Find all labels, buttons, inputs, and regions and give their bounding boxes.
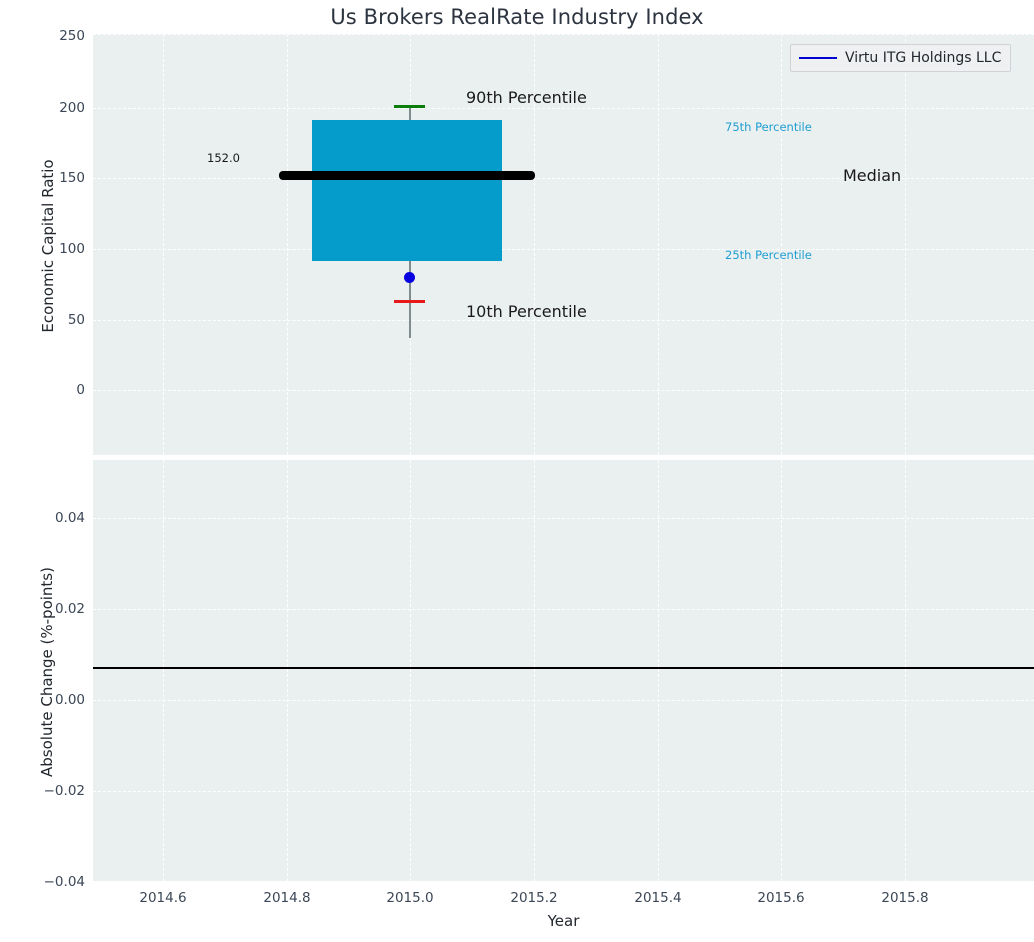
xtick-2014.6: 2014.6 bbox=[139, 890, 186, 906]
chart-figure: Us Brokers RealRate Industry Index 152.0 bbox=[0, 0, 1034, 942]
xtick-2014.8: 2014.8 bbox=[263, 890, 310, 906]
gridline-y-0.02 bbox=[93, 609, 1034, 610]
gridline-x2-2015.8 bbox=[905, 460, 906, 881]
chart-title: Us Brokers RealRate Industry Index bbox=[0, 5, 1034, 29]
zero-reference-line bbox=[93, 667, 1034, 669]
gridline-x2-2014.8 bbox=[287, 460, 288, 881]
ytick-top-0: 0 bbox=[0, 382, 85, 398]
xtick-2015.8: 2015.8 bbox=[881, 890, 928, 906]
gridline-y-100 bbox=[93, 249, 1034, 250]
interquartile-box bbox=[312, 120, 502, 261]
median-value-label: 152.0 bbox=[207, 151, 240, 165]
gridline-x-2015.6 bbox=[781, 34, 782, 455]
percentile-10-cap bbox=[394, 300, 425, 303]
ytick-top-250: 250 bbox=[0, 28, 85, 44]
gridline-x-2015.4 bbox=[658, 34, 659, 455]
gridline-x2-2014.6 bbox=[163, 460, 164, 881]
annotation-90th-percentile: 90th Percentile bbox=[466, 88, 587, 107]
gridline-x2-2015.0 bbox=[410, 460, 411, 881]
ytick-bottom--0.04: −0.04 bbox=[0, 874, 85, 890]
annotation-25th-percentile: 25th Percentile bbox=[725, 248, 812, 262]
annotation-75th-percentile: 75th Percentile bbox=[725, 120, 812, 134]
xtick-2015.2: 2015.2 bbox=[510, 890, 557, 906]
gridline-x-2014.6 bbox=[163, 34, 164, 455]
xtick-2015.4: 2015.4 bbox=[634, 890, 681, 906]
gridline-y-250 bbox=[93, 34, 1034, 35]
gridline-x2-2015.4 bbox=[658, 460, 659, 881]
gridline-y-0.04 bbox=[93, 518, 1034, 519]
gridline-y-200 bbox=[93, 108, 1034, 109]
ytick-top-200: 200 bbox=[0, 100, 85, 116]
median-line bbox=[279, 171, 535, 180]
annotation-10th-percentile: 10th Percentile bbox=[466, 302, 587, 321]
chart-legend[interactable]: Virtu ITG Holdings LLC bbox=[790, 44, 1011, 72]
xtick-2015.6: 2015.6 bbox=[757, 890, 804, 906]
gridline-y--0.02 bbox=[93, 791, 1034, 792]
y-axis-label-bottom: Absolute Change (%-points) bbox=[38, 507, 56, 837]
gridline-y-0 bbox=[93, 390, 1034, 391]
percentile-90-cap bbox=[394, 105, 425, 108]
gridline-x2-2015.2 bbox=[534, 460, 535, 881]
gridline-x2-2015.6 bbox=[781, 460, 782, 881]
gridline-x-2014.8 bbox=[287, 34, 288, 455]
legend-entry-label: Virtu ITG Holdings LLC bbox=[845, 50, 1001, 66]
data-point-marker[interactable] bbox=[404, 272, 415, 283]
legend-line-swatch-icon bbox=[799, 57, 837, 59]
bottom-plot-panel bbox=[93, 460, 1034, 881]
annotation-median: Median bbox=[843, 166, 901, 185]
gridline-x-2015.8 bbox=[905, 34, 906, 455]
xtick-2015.0: 2015.0 bbox=[386, 890, 433, 906]
y-axis-label-top: Economic Capital Ratio bbox=[39, 116, 57, 376]
x-axis-label: Year bbox=[93, 912, 1034, 930]
gridline-y-0.00 bbox=[93, 700, 1034, 701]
